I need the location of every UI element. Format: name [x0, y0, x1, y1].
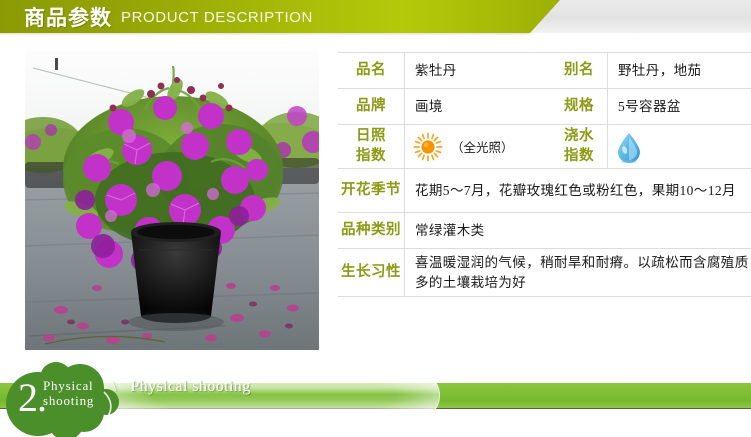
sun-icon: [413, 132, 443, 162]
spec-label-size: 规格: [551, 89, 608, 125]
sunlight-note: （全光照）: [451, 137, 514, 156]
page-title: 商品参数: [24, 2, 112, 32]
spec-value-watering: [608, 125, 751, 169]
spec-label-sunlight-line2: 指数: [338, 147, 404, 167]
table-row: 开花季节 花期5～7月，花瓣玫瑰红色或粉红色，果期10～12月: [338, 169, 751, 213]
badge-caption-line1: Physical: [43, 378, 94, 393]
page-title-en: PRODUCT DESCRIPTION: [121, 9, 313, 26]
spec-label-watering: 浇水 指数: [551, 125, 608, 169]
spec-value-size: 5号容器盆: [608, 89, 751, 125]
badge-caption-line2: shooting: [43, 393, 94, 408]
spec-value-growth-habit: 喜温暖湿润的气候，稍耐旱和耐瘠。以疏松而含腐殖质多的土壤栽培为好: [405, 249, 751, 297]
product-spec-table: 品名 紫牡丹 别名 野牡丹，地茄 品牌 画境 规格 5号容器盆 日照 指数: [338, 52, 751, 297]
table-row: 品种类别 常绿灌木类: [338, 213, 751, 249]
table-row: 生长习性 喜温暖湿润的气候，稍耐旱和耐瘠。以疏松而含腐殖质多的土壤栽培为好: [338, 249, 751, 297]
spec-label-watering-line1: 浇水: [551, 127, 607, 147]
table-row: 品牌 画境 规格 5号容器盆: [338, 89, 751, 125]
section-footer: 实物拍摄 \ Physical shooting 2. Physical sho…: [0, 362, 751, 437]
spec-value-brand: 画境: [405, 89, 552, 125]
spec-value-name: 紫牡丹: [405, 53, 552, 89]
spec-value-bloom-season: 花期5～7月，花瓣玫瑰红色或粉红色，果期10～12月: [405, 169, 751, 213]
spec-label-watering-line2: 指数: [551, 147, 607, 167]
table-row: 日照 指数: [338, 125, 751, 169]
footer-label-en: Physical shooting: [130, 378, 250, 396]
spec-label-alias: 别名: [551, 53, 608, 89]
product-photo-image: [25, 50, 319, 350]
spec-value-sunlight: （全光照）: [405, 125, 552, 169]
section-number-badge: 2. Physical shooting: [4, 362, 134, 437]
spec-label-brand: 品牌: [338, 89, 405, 125]
header-title-group: 商品参数 PRODUCT DESCRIPTION: [24, 0, 313, 33]
table-row: 品名 紫牡丹 别名 野牡丹，地茄: [338, 53, 751, 89]
water-drop-icon: [616, 131, 642, 163]
spec-label-name: 品名: [338, 53, 405, 89]
spec-label-growth-habit: 生长习性: [338, 249, 405, 297]
badge-caption: Physical shooting: [43, 378, 94, 409]
page-header: 商品参数 PRODUCT DESCRIPTION: [0, 0, 751, 40]
product-photo: [25, 50, 319, 350]
spec-value-variety-type: 常绿灌木类: [405, 213, 751, 249]
header-band-shadow: [0, 33, 530, 36]
spec-label-bloom-season: 开花季节: [338, 169, 405, 213]
spec-label-sunlight-line1: 日照: [338, 127, 404, 147]
spec-label-sunlight: 日照 指数: [338, 125, 405, 169]
badge-number: 2.: [18, 378, 46, 418]
spec-label-variety-type: 品种类别: [338, 213, 405, 249]
spec-value-alias: 野牡丹，地茄: [608, 53, 751, 89]
